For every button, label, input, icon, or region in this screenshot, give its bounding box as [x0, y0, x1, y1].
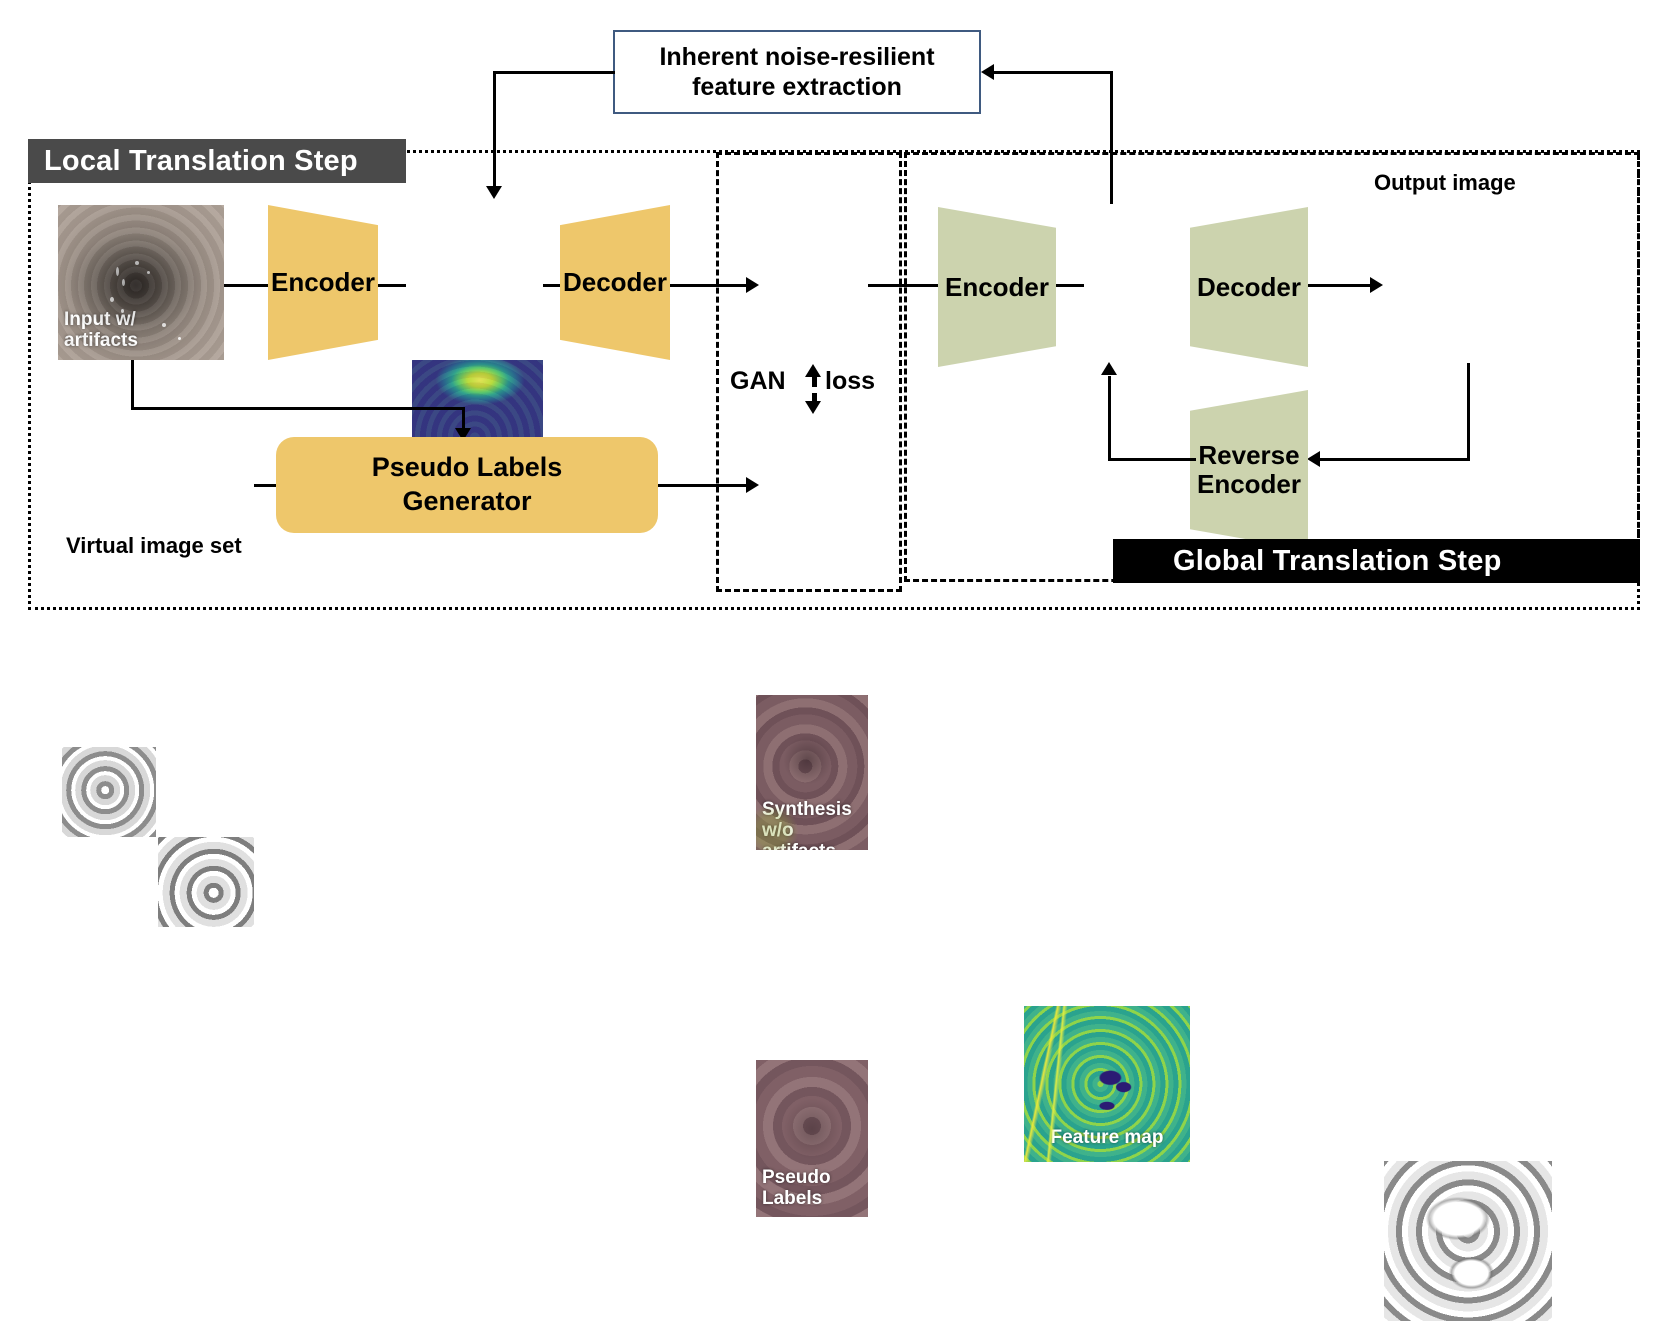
gan-loss-label-left: GAN: [730, 367, 786, 396]
arrowhead-left-into-noisebox: [981, 64, 994, 80]
virtual-image-set-caption: Virtual image set: [66, 533, 242, 559]
input-with-artifacts-image: Input w/ artifacts: [58, 205, 224, 360]
inherent-noise-resilient-feature-extraction-box: Inherent noise-resilient feature extract…: [613, 30, 981, 114]
connector-reverse-encoder-to-featuremap-horizontal: [1108, 458, 1196, 461]
pseudo-labels-image: Pseudo Labels: [756, 1060, 868, 1217]
arrowhead-down-gan-loss: [805, 401, 821, 414]
global-encoder-label: Encoder: [945, 273, 1049, 302]
reverse-encoder-trapezoid: Reverse Encoder: [1190, 390, 1308, 550]
input-image-caption: Input w/ artifacts: [64, 310, 138, 352]
noise-box-line-1: Inherent noise-resilient: [659, 43, 934, 71]
local-translation-step-banner: Local Translation Step: [28, 139, 406, 183]
connector-noisebox-right-horizontal: [994, 71, 1113, 74]
pseudo-labels-generator-box: Pseudo Labels Generator: [276, 437, 658, 533]
arrowhead-left-to-reverse-encoder: [1307, 451, 1320, 467]
global-decoder-trapezoid: Decoder: [1190, 207, 1308, 367]
reverse-encoder-label: Reverse Encoder: [1197, 441, 1301, 498]
connector-generator-down-vertical: [462, 407, 465, 430]
global-feature-map-label: Feature map: [1024, 1128, 1190, 1149]
global-translation-step-banner: Global Translation Step: [1113, 539, 1640, 583]
global-decoder-label: Decoder: [1197, 273, 1301, 302]
virtual-image-sample-1: [62, 747, 156, 837]
local-step-label: Local Translation Step: [44, 145, 358, 178]
output-image: [1384, 1161, 1552, 1321]
connector-input-down-vertical: [131, 360, 134, 410]
arrowhead-down-to-left-featuremap: [486, 186, 502, 199]
output-image-caption: Output image: [1374, 170, 1516, 196]
connector-global-decoder-to-output: [1308, 284, 1370, 287]
pseudo-labels-generator-label: Pseudo Labels Generator: [372, 451, 563, 519]
arrowhead-right-to-output: [1370, 277, 1383, 293]
synthesis-caption: Synthesis w/o artifacts: [762, 800, 868, 850]
local-decoder-label: Decoder: [563, 268, 667, 297]
connector-global-encoder-to-featuremap: [1056, 284, 1084, 287]
gan-loss-label-right: loss: [825, 367, 875, 396]
connector-input-to-encoder: [224, 284, 272, 287]
connector-reverse-encoder-to-featuremap-vertical: [1108, 376, 1111, 460]
connector-output-to-reverse-encoder: [1320, 458, 1470, 461]
connector-output-down-vertical: [1467, 363, 1470, 461]
local-encoder-trapezoid: Encoder: [268, 205, 378, 360]
global-step-label: Global Translation Step: [1173, 545, 1502, 578]
pseudo-labels-caption: Pseudo Labels: [762, 1168, 831, 1210]
arrowhead-up-gan-loss: [805, 364, 821, 377]
virtual-image-sample-2: [158, 837, 254, 927]
connector-encoder-to-featuremap-left: [378, 284, 406, 287]
connector-input-to-generator-horizontal: [131, 407, 465, 410]
diagram-canvas: Inherent noise-resilient feature extract…: [0, 0, 1660, 681]
noise-box-line-2: feature extraction: [692, 73, 902, 101]
global-feature-map-image: Feature map: [1024, 1006, 1190, 1162]
global-encoder-trapezoid: Encoder: [938, 207, 1056, 367]
local-encoder-label: Encoder: [271, 268, 375, 297]
connector-synthesis-to-global-encoder: [868, 284, 942, 287]
local-decoder-trapezoid: Decoder: [560, 205, 670, 360]
connector-noisebox-left-horizontal: [493, 71, 615, 74]
arrowhead-up-to-global-featuremap: [1101, 362, 1117, 375]
synthesis-without-artifacts-image: Synthesis w/o artifacts: [756, 695, 868, 850]
connector-noisebox-left-vertical: [493, 71, 496, 188]
gan-loss-dashed-line: [812, 377, 817, 403]
